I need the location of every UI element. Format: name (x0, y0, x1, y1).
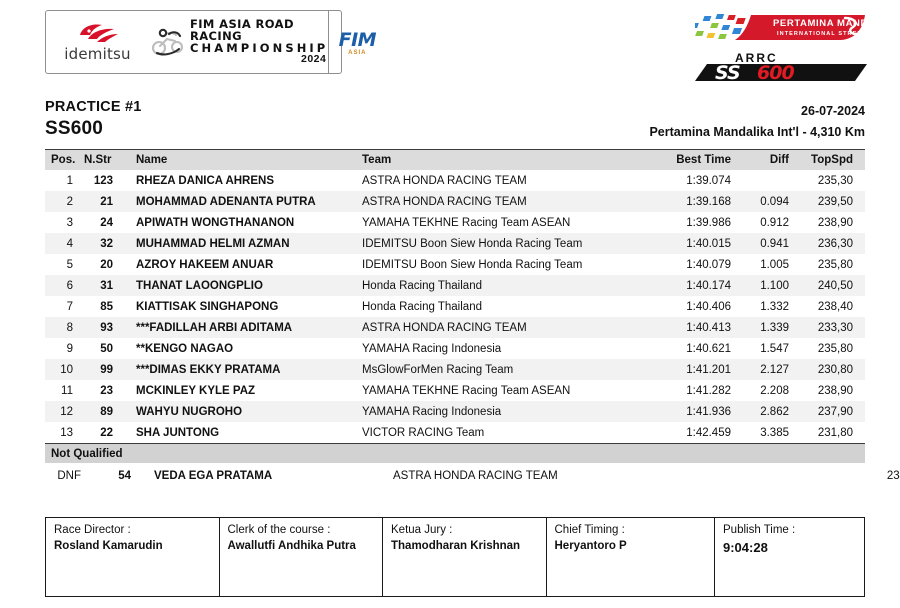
cell-best-time: 1:39.074 (663, 170, 741, 191)
cell-best-time: 1:40.413 (663, 317, 741, 338)
official-value: Rosland Kamarudin (54, 540, 211, 552)
motorcycle-rider-icon (151, 27, 185, 57)
cell-top-speed: 237,90 (801, 401, 865, 422)
cell-best-time: 1:39.168 (663, 191, 741, 212)
official-value: Thamodharan Krishnan (391, 540, 538, 552)
championship-line1: FIM ASIA ROAD RACING (190, 19, 328, 42)
table-row: 1123MCKINLEY KYLE PAZYAMAHA TEKHNE Racin… (45, 380, 865, 401)
column-header-diff: Diff (741, 150, 801, 171)
cell-diff: 2.127 (741, 359, 801, 380)
cell-top-speed: 235,80 (801, 254, 865, 275)
cell-rider-number: 23 (81, 380, 123, 401)
official-chief-timing: Chief Timing : Heryantoro P (546, 517, 716, 597)
officials-footer: Race Director : Rosland Kamarudin Clerk … (45, 517, 865, 597)
cell-diff: 2.208 (741, 380, 801, 401)
cell-rider-number: 99 (81, 359, 123, 380)
cell-position: 5 (45, 254, 81, 275)
cell-best-time: 1:39.986 (663, 212, 741, 233)
championship-year: 2024 (190, 54, 328, 65)
cell-top-speed: 230,80 (801, 359, 865, 380)
official-value: Heryantoro P (555, 540, 707, 552)
cell-best-time: 1:40.079 (663, 254, 741, 275)
table-row: 1123RHEZA DANICA AHRENSASTRA HONDA RACIN… (45, 170, 865, 191)
official-label: Chief Timing : (555, 524, 707, 536)
idemitsu-flame-icon (76, 22, 120, 44)
cell-position: 9 (45, 338, 81, 359)
cell-best-time: 1:42.459 (663, 422, 741, 443)
cell-rider-name: AZROY HAKEEM ANUAR (123, 254, 358, 275)
publish-time-value: 9:04:28 (723, 540, 856, 555)
cell-position: 8 (45, 317, 81, 338)
cell-best-time: 1:40.174 (663, 275, 741, 296)
official-clerk-of-course: Clerk of the course : Awallutfi Andhika … (219, 517, 384, 597)
cell-team: MsGlowForMen Racing Team (358, 359, 663, 380)
event-circuit: Pertamina Mandalika Int'l - 4,310 Km (649, 125, 865, 139)
cell-best-time: 1:41.282 (663, 380, 741, 401)
cell-diff: 1.100 (741, 275, 801, 296)
cell-position: 10 (45, 359, 81, 380)
table-header-row: Pos. N.Str Name Team Best Time Diff TopS… (45, 150, 865, 171)
cell-team: YAMAHA TEKHNE Racing Team ASEAN (358, 380, 663, 401)
class-name: SS600 (45, 118, 141, 140)
official-label: Ketua Jury : (391, 524, 538, 536)
session-title-block: PRACTICE #1 SS600 (45, 99, 141, 140)
cell-rider-number: 93 (81, 317, 123, 338)
cell-rider-number: 32 (81, 233, 123, 254)
cell-position: 13 (45, 422, 81, 443)
cell-position: 6 (45, 275, 81, 296)
cell-team: YAMAHA TEKHNE Racing Team ASEAN (358, 212, 663, 233)
cell-best-time: 1:41.936 (663, 401, 741, 422)
cell-diff: 0.912 (741, 212, 801, 233)
not-qualified-section: Not Qualified DNF54VEDA EGA PRATAMAASTRA… (45, 443, 865, 488)
results-table: Pos. N.Str Name Team Best Time Diff TopS… (45, 149, 865, 443)
cell-team: ASTRA HONDA RACING TEAM (358, 191, 663, 212)
cell-rider-number: 22 (81, 422, 123, 443)
cell-best-time: 1:40.406 (663, 296, 741, 317)
cell-team: IDEMITSU Boon Siew Honda Racing Team (358, 254, 663, 275)
fim-logo: FIM ASIA (328, 11, 385, 73)
cell-team: Honda Racing Thailand (358, 275, 663, 296)
not-qualified-row: DNF54VEDA EGA PRATAMAASTRA HONDA RACING … (45, 463, 900, 488)
cell-top-speed: 236,30 (801, 233, 865, 254)
cell-rider-number: 85 (81, 296, 123, 317)
cell-diff: 2.862 (741, 401, 801, 422)
cell-top-speed: 233,30 (801, 317, 865, 338)
cell-team: IDEMITSU Boon Siew Honda Racing Team (358, 233, 663, 254)
official-label: Clerk of the course : (228, 524, 375, 536)
cell-team: ASTRA HONDA RACING TEAM (358, 170, 663, 191)
cell-rider-name: SHA JUNTONG (123, 422, 358, 443)
cell-rider-number: 50 (81, 338, 123, 359)
cell-position: 2 (45, 191, 81, 212)
table-row: 520AZROY HAKEEM ANUARIDEMITSU Boon Siew … (45, 254, 865, 275)
official-value: Awallutfi Andhika Putra (228, 540, 375, 552)
pertamina-mandalika-circuit-logo: PERTAMINA MANDALIKA INTERNATIONAL STREET… (695, 9, 867, 45)
cell-team: ASTRA HONDA RACING TEAM (389, 463, 698, 488)
cell-rider-number: 31 (81, 275, 123, 296)
cell-rider-name: **KENGO NAGAO (123, 338, 358, 359)
cell-top-speed: 235,30 (801, 170, 865, 191)
official-label: Race Director : (54, 524, 211, 536)
svg-text:SS: SS (715, 62, 740, 82)
cell-best-time: 1:40.621 (663, 338, 741, 359)
event-meta-block: 26-07-2024 Pertamina Mandalika Int'l - 4… (649, 104, 865, 139)
cell-rider-name: MOHAMMAD ADENANTA PUTRA (123, 191, 358, 212)
not-qualified-heading: Not Qualified (45, 443, 865, 463)
cell-top-speed: 240,50 (801, 275, 865, 296)
cell-diff: 0.094 (741, 191, 801, 212)
cell-diff (786, 463, 858, 488)
cell-rider-number: 123 (81, 170, 123, 191)
cell-team: YAMAHA Racing Indonesia (358, 338, 663, 359)
arrc-championship-logo: FIM ASIA ROAD RACING CHAMPIONSHIP 2024 (149, 11, 328, 73)
cell-top-speed: 231,80 (801, 422, 865, 443)
cell-team: Honda Racing Thailand (358, 296, 663, 317)
table-row: 950**KENGO NAGAOYAMAHA Racing Indonesia1… (45, 338, 865, 359)
cell-rider-name: MUHAMMAD HELMI AZMAN (123, 233, 358, 254)
official-ketua-jury: Ketua Jury : Thamodharan Krishnan (382, 517, 547, 597)
cell-rider-name: MCKINLEY KYLE PAZ (123, 380, 358, 401)
table-row: 1322SHA JUNTONGVICTOR RACING Team1:42.45… (45, 422, 865, 443)
cell-position: 4 (45, 233, 81, 254)
cell-team: ASTRA HONDA RACING TEAM (358, 317, 663, 338)
cell-best-time (698, 463, 786, 488)
table-row: 1289WAHYU NUGROHOYAMAHA Racing Indonesia… (45, 401, 865, 422)
cell-position: 11 (45, 380, 81, 401)
cell-diff: 1.339 (741, 317, 801, 338)
idemitsu-logo: idemitsu (46, 11, 149, 73)
cell-rider-number: 89 (81, 401, 123, 422)
cell-diff: 3.385 (741, 422, 801, 443)
column-header-pos: Pos. (45, 150, 81, 171)
cell-best-time: 1:41.201 (663, 359, 741, 380)
cell-rider-name: WAHYU NUGROHO (123, 401, 358, 422)
column-header-num: N.Str (81, 150, 123, 171)
table-row: 631THANAT LAOONGPLIOHonda Racing Thailan… (45, 275, 865, 296)
cell-rider-name: RHEZA DANICA AHRENS (123, 170, 358, 191)
table-row: 893***FADILLAH ARBI ADITAMAASTRA HONDA R… (45, 317, 865, 338)
cell-rider-name: ***DIMAS EKKY PRATAMA (123, 359, 358, 380)
cell-rider-number: 20 (81, 254, 123, 275)
cell-position: 7 (45, 296, 81, 317)
publish-time-box: Publish Time : 9:04:28 (714, 517, 865, 597)
cell-rider-name: APIWATH WONGTHANANON (123, 212, 358, 233)
not-qualified-table: DNF54VEDA EGA PRATAMAASTRA HONDA RACING … (45, 463, 900, 488)
fim-asia-subtext: ASIA (348, 50, 366, 56)
arrc-ss600-class-logo: ARRC SS 600 (695, 50, 867, 82)
publish-time-label: Publish Time : (723, 524, 856, 536)
idemitsu-wordmark: idemitsu (64, 45, 131, 63)
official-race-director: Race Director : Rosland Kamarudin (45, 517, 220, 597)
cell-position: 3 (45, 212, 81, 233)
championship-wordmark: FIM ASIA ROAD RACING CHAMPIONSHIP 2024 (190, 19, 328, 65)
cell-rider-number: 54 (89, 463, 141, 488)
cell-diff: 1.332 (741, 296, 801, 317)
fim-wordmark: FIM (339, 29, 376, 51)
cell-diff: 1.547 (741, 338, 801, 359)
header-logo-bar: idemitsu (0, 0, 900, 92)
cell-team: VICTOR RACING Team (358, 422, 663, 443)
cell-rider-name: VEDA EGA PRATAMA (141, 463, 389, 488)
session-name: PRACTICE #1 (45, 99, 141, 115)
championship-logo-box: idemitsu (45, 10, 342, 74)
cell-top-speed: 238,90 (801, 212, 865, 233)
cell-top-speed: 238,90 (801, 380, 865, 401)
cell-rider-name: KIATTISAK SINGHAPONG (123, 296, 358, 317)
table-row: 221MOHAMMAD ADENANTA PUTRAASTRA HONDA RA… (45, 191, 865, 212)
cell-position: 12 (45, 401, 81, 422)
table-row: 1099***DIMAS EKKY PRATAMAMsGlowForMen Ra… (45, 359, 865, 380)
cell-position: 1 (45, 170, 81, 191)
cell-diff: 0.941 (741, 233, 801, 254)
column-header-team: Team (358, 150, 663, 171)
cell-position: DNF (45, 463, 89, 488)
svg-text:600: 600 (757, 62, 794, 82)
cell-top-speed: 238,40 (801, 296, 865, 317)
column-header-name: Name (123, 150, 358, 171)
cell-rider-name: ***FADILLAH ARBI ADITAMA (123, 317, 358, 338)
column-header-top: TopSpd (801, 150, 865, 171)
cell-team: YAMAHA Racing Indonesia (358, 401, 663, 422)
cell-top-speed: 234,80 (858, 463, 900, 488)
cell-diff: 1.005 (741, 254, 801, 275)
table-row: 785KIATTISAK SINGHAPONGHonda Racing Thai… (45, 296, 865, 317)
cell-rider-name: THANAT LAOONGPLIO (123, 275, 358, 296)
cell-rider-number: 21 (81, 191, 123, 212)
table-row: 324APIWATH WONGTHANANONYAMAHA TEKHNE Rac… (45, 212, 865, 233)
cell-top-speed: 235,80 (801, 338, 865, 359)
table-row: 432MUHAMMAD HELMI AZMANIDEMITSU Boon Sie… (45, 233, 865, 254)
cell-rider-number: 24 (81, 212, 123, 233)
cell-diff (741, 170, 801, 191)
event-date: 26-07-2024 (649, 104, 865, 118)
column-header-best: Best Time (663, 150, 741, 171)
cell-best-time: 1:40.015 (663, 233, 741, 254)
cell-top-speed: 239,50 (801, 191, 865, 212)
